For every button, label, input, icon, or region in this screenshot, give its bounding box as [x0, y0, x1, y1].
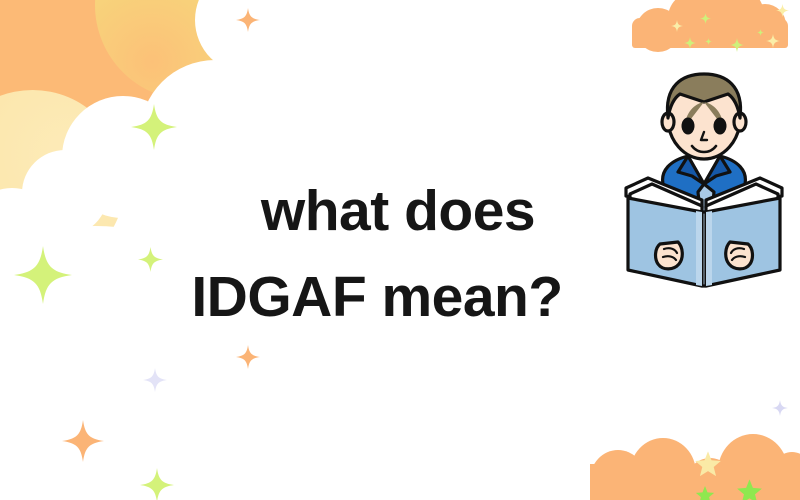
- sparkle-icon: [684, 37, 696, 49]
- sparkle-icon: [766, 34, 780, 48]
- cloud-top-right: [632, 0, 788, 48]
- cloud-base: [590, 464, 800, 500]
- sparkle-icon: [700, 13, 711, 24]
- sparkle-icon: [131, 104, 177, 150]
- sparkle-icon: [757, 29, 764, 36]
- sparkle-icon: [671, 20, 683, 32]
- cloud-lobe: [590, 450, 646, 500]
- cloud-lobe: [686, 458, 734, 500]
- yellow-gradient-circle: [95, 0, 285, 100]
- headline-line-2: IDGAF mean?: [0, 254, 800, 340]
- cloud-lobe: [668, 0, 720, 44]
- cloud-lobe: [630, 438, 696, 500]
- poster-canvas: what does IDGAF mean?: [0, 0, 800, 500]
- sparkle-icon: [140, 468, 174, 500]
- star-icon: [695, 485, 715, 500]
- sparkle-icon: [143, 368, 167, 392]
- star-icon: [736, 478, 763, 500]
- page-title: what does IDGAF mean?: [0, 168, 800, 340]
- star-icon: [694, 450, 722, 478]
- sparkle-icon: [236, 8, 260, 32]
- headline-line-1: what does: [0, 168, 800, 254]
- cloud-lobe: [718, 434, 788, 500]
- sparkle-icon: [730, 38, 744, 52]
- cloud-lobe: [706, 0, 764, 44]
- sparkle-icon: [236, 345, 260, 369]
- cloud-bottom-right: [590, 426, 800, 500]
- sparkle-icon: [705, 38, 712, 45]
- cloud-base: [632, 18, 788, 48]
- sparkle-icon: [776, 4, 789, 17]
- sparkle-icon: [62, 420, 104, 462]
- sparkle-icon: [772, 400, 788, 416]
- cloud-puff: [195, 0, 300, 74]
- cloud-lobe: [636, 8, 680, 52]
- cloud-lobe: [770, 452, 800, 500]
- cloud-lobe: [744, 4, 786, 46]
